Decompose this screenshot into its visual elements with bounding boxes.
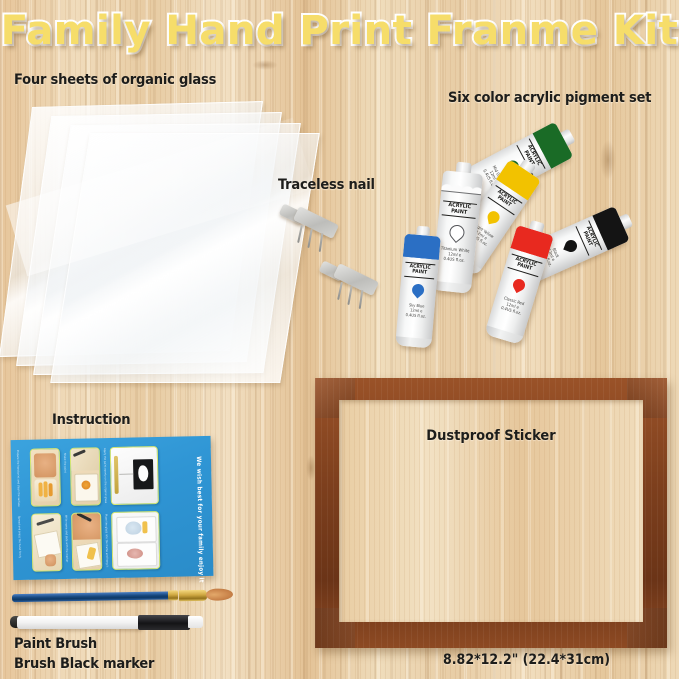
tube-volume-alt: 0.4US fl.oz. — [405, 312, 426, 319]
tube-volume-alt: 0.4US fl.oz. — [443, 256, 465, 263]
traceless-nail-1 — [280, 205, 350, 250]
product-infographic: Family Hand Print Franme Kit Family Hand… — [0, 0, 679, 679]
label-traceless-nail: Traceless nail — [278, 177, 375, 193]
instruction-slogan: We wish best for your family enjoy it — [195, 456, 205, 583]
traceless-nail-2 — [320, 262, 390, 307]
instruction-panel — [71, 512, 102, 571]
frame-dimensions: 8.82*12.2" (22.4*31cm) — [443, 652, 610, 668]
label-dustproof-sticker: Dustproof Sticker — [315, 428, 667, 444]
instruction-panel-caption: Write name and date with the marker — [64, 515, 68, 569]
tube-brand-line2: PAINT — [412, 269, 427, 276]
instruction-panel-caption: Apply the paint evenly on the organic gl… — [103, 448, 107, 502]
instruction-panel — [70, 447, 101, 506]
instruction-panel-caption: Place the glass into the frame and hang … — [104, 514, 108, 568]
label-black-marker: Brush Black marker — [14, 656, 154, 672]
instruction-panel — [30, 448, 61, 507]
instruction-sheet: Prepare the hand print and clean the sur… — [11, 436, 214, 580]
glass-sheet — [50, 133, 320, 383]
label-paint-brush: Paint Brush — [14, 636, 97, 652]
page-title: Family Hand Print Franme Kit — [0, 8, 679, 54]
instruction-panel-caption: Spread and press the hand firmly — [17, 516, 21, 570]
label-pigment-set: Six color acrylic pigment set — [448, 90, 651, 106]
black-marker — [10, 612, 240, 632]
tube-brand-line2: PAINT — [451, 208, 468, 216]
instruction-panel-caption: Shake the paint — [63, 453, 67, 499]
instruction-panel — [31, 513, 62, 572]
instruction-panel-caption: Prepare the hand print and clean the sur… — [16, 450, 20, 504]
picture-frame: Dustproof Sticker — [315, 378, 667, 648]
label-organic-glass: Four sheets of organic glass — [14, 72, 216, 88]
instruction-panel — [111, 511, 160, 570]
label-instruction: Instruction — [52, 412, 130, 428]
instruction-panel — [110, 446, 159, 505]
